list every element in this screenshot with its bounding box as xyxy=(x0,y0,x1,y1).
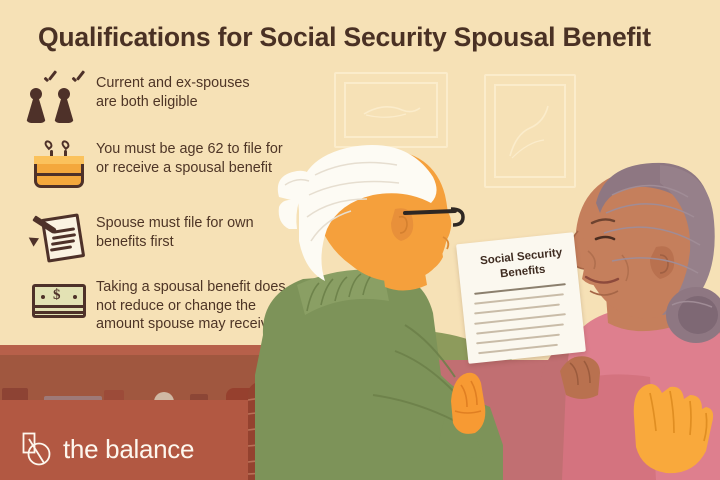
list-item: You must be age 62 to file for or receiv… xyxy=(22,138,283,194)
logo-wordmark: the balance xyxy=(63,434,194,465)
list-item-text: Spouse must file for own benefits first xyxy=(96,212,254,251)
list-item-line: are both eligible xyxy=(96,93,250,112)
list-item-text: Current and ex-spouses are both eligible xyxy=(96,72,250,111)
birthday-cake-icon xyxy=(22,138,96,194)
list-item-line: benefits first xyxy=(96,233,254,252)
page-title: Qualifications for Social Security Spous… xyxy=(38,22,678,53)
two-people-with-checkmarks-icon xyxy=(22,72,96,128)
list-item-line: Spouse must file for own xyxy=(96,214,254,233)
the-balance-logo: the balance xyxy=(22,432,194,466)
list-item-line: Current and ex-spouses xyxy=(96,74,250,93)
infographic-canvas: Qualifications for Social Security Spous… xyxy=(0,0,720,480)
list-item: $ Taking a spousal benefit does not redu… xyxy=(22,276,286,334)
elderly-woman-figure xyxy=(560,155,720,480)
list-item: Spouse must file for own benefits first xyxy=(22,212,254,268)
document-with-pen-icon xyxy=(22,212,96,268)
horizontal-picture-frame-icon xyxy=(334,72,448,148)
list-item: Current and ex-spouses are both eligible xyxy=(22,72,250,128)
social-security-benefits-document: Social Security Benefits xyxy=(462,238,580,358)
dollar-bill-icon: $ xyxy=(22,276,96,332)
the-balance-b-monogram-icon xyxy=(22,432,52,466)
